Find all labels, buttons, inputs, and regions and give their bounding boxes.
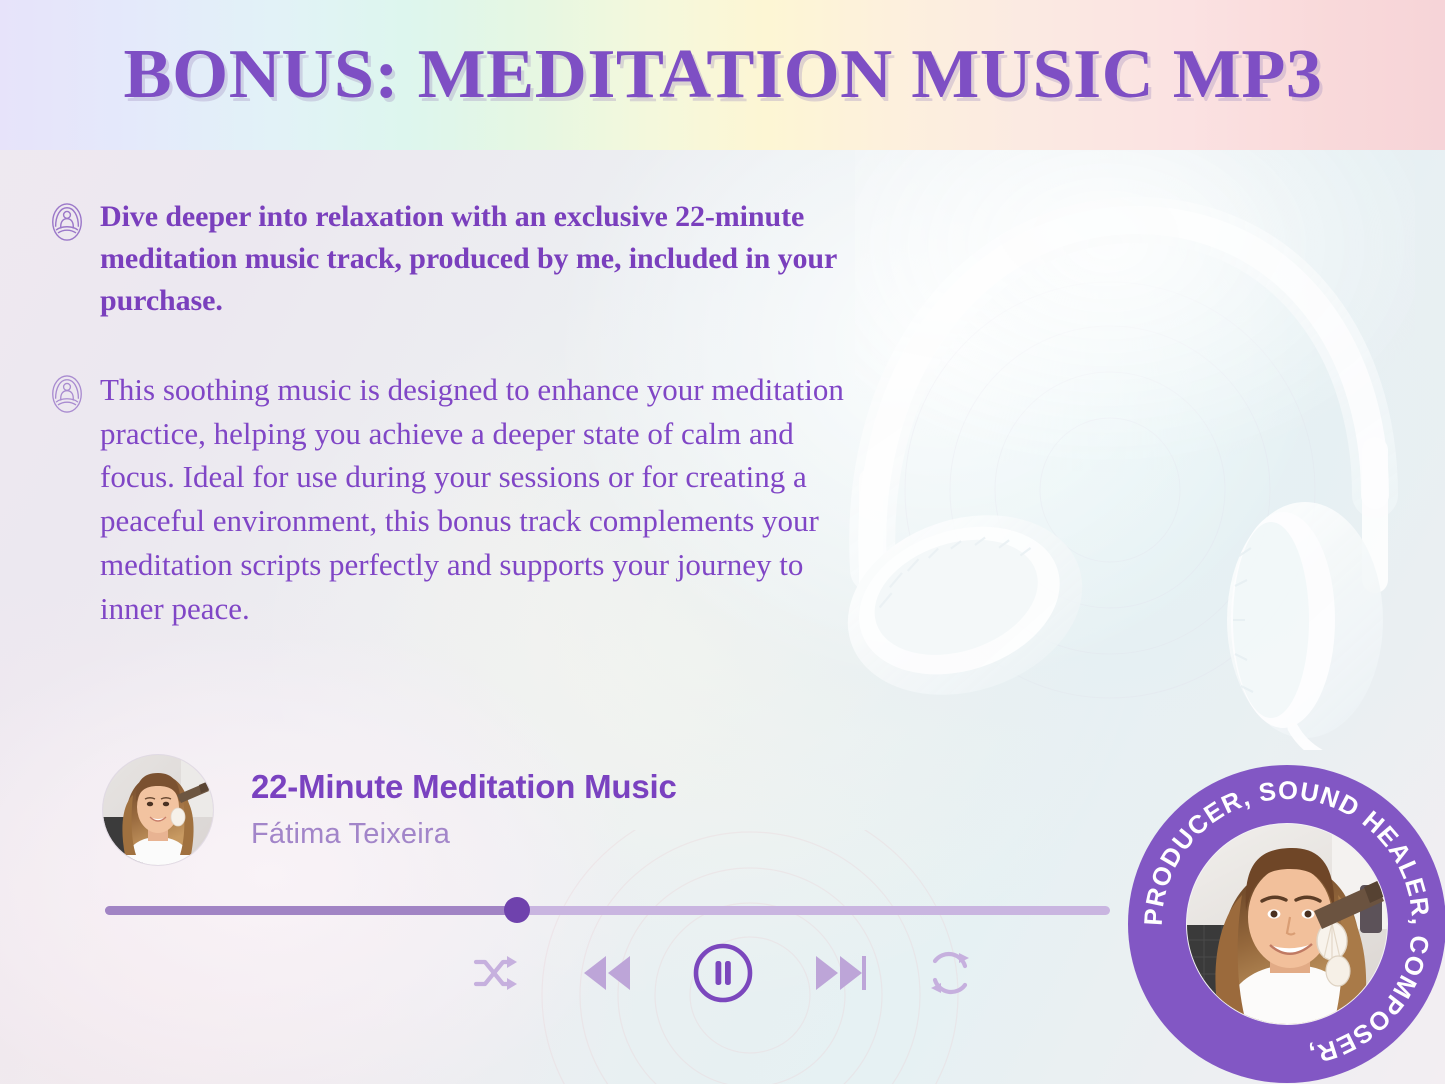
slide-root: BONUS: MEDITATION MUSIC MP3 Dive deeper … [0,0,1445,1084]
credential-badge: MEDITATION PRODUCER, SOUND HEALER, COMPO… [1128,765,1445,1083]
bullet-paragraph-2: This soothing music is designed to enhan… [48,368,848,630]
meditation-lotus-icon [48,374,86,414]
progress-slider[interactable] [105,895,1110,925]
paragraph-text-2: This soothing music is designed to enhan… [100,368,848,630]
next-track-icon[interactable] [811,950,869,996]
artist-avatar [103,755,213,865]
meditation-lotus-icon [48,202,86,242]
content-block: Dive deeper into relaxation with an excl… [48,196,848,630]
bullet-paragraph-1: Dive deeper into relaxation with an excl… [48,196,848,322]
page-title: BONUS: MEDITATION MUSIC MP3 [123,35,1322,115]
track-title: 22-Minute Meditation Music [251,769,677,805]
track-meta: 22-Minute Meditation Music Fátima Teixei… [251,769,677,851]
pause-icon[interactable] [691,941,755,1005]
repeat-icon[interactable] [925,949,975,997]
paragraph-text-1: Dive deeper into relaxation with an excl… [100,196,848,322]
progress-thumb[interactable] [504,897,530,923]
track-artist: Fátima Teixeira [251,818,677,851]
header-banner: BONUS: MEDITATION MUSIC MP3 [0,0,1445,150]
previous-track-icon[interactable] [577,950,635,996]
progress-fill [105,906,517,915]
shuffle-icon[interactable] [471,951,521,995]
player-track-header: 22-Minute Meditation Music Fátima Teixei… [103,755,677,865]
